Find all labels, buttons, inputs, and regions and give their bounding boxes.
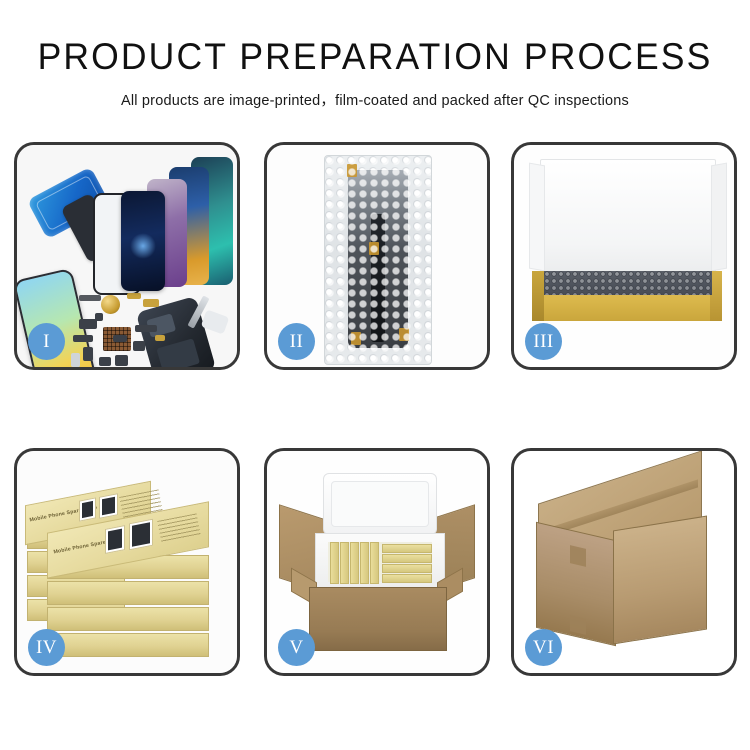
tape-icon [347,164,357,177]
white-box-lid-icon [540,159,716,281]
box-side [47,633,209,657]
process-step-panel-2[interactable]: II [264,142,490,370]
yellow-box-tray-icon [532,271,722,321]
carton-right-face [613,516,707,645]
speaker-component-icon [101,295,120,314]
box-side [47,607,209,631]
box-side [47,581,209,605]
part-icon [95,313,103,321]
tape-icon [399,328,409,341]
carton-front-face [309,587,447,651]
process-step-panel-3[interactable]: III [511,142,737,370]
box-window [105,525,125,554]
part-icon [113,335,127,342]
page-header: PRODUCT PREPARATION PROCESS All products… [0,0,750,110]
part-icon [71,353,80,367]
foam-lid-icon [323,473,437,535]
step-badge-2: II [278,323,315,360]
yellow-box-item [382,544,432,553]
yellow-box-item [340,542,349,584]
yellow-box-item [330,542,339,584]
page-title: PRODUCT PREPARATION PROCESS [15,38,735,75]
foam-cavity [328,542,432,582]
box-window [79,497,96,521]
box-window [129,519,153,551]
foam-box-icon [315,533,445,593]
dark-bubble-wrap-icon [544,271,712,295]
step-badge-4: IV [28,629,65,666]
process-step-panel-4[interactable]: Mobile Phone Spare Parts Mobile Phone Sp… [14,448,240,676]
part-icon [155,335,165,341]
tape-icon [369,242,379,255]
phone-blue-dark-icon [121,191,165,291]
page-subtitle: All products are image-printed，film-coat… [0,89,750,110]
process-step-grid: I II [0,138,750,698]
yellow-box-item [370,542,379,584]
yellow-box-item [360,542,369,584]
step-badge-5: V [278,629,315,666]
part-icon [79,295,101,301]
flex-cable-icon [371,214,385,342]
part-icon [79,319,97,329]
tray-left-lip [532,271,544,321]
part-icon [115,355,128,366]
part-icon [135,325,157,332]
step-badge-6: VI [525,629,562,666]
yellow-box-item [382,564,432,573]
carton-tab [570,615,586,635]
step-badge-1: I [28,323,65,360]
part-icon [143,299,159,307]
part-icon [133,341,145,351]
part-icon [99,357,111,366]
process-step-panel-5[interactable]: V [264,448,490,676]
process-step-panel-6[interactable]: VI [511,448,737,676]
step-badge-3: III [525,323,562,360]
yellow-box-item [350,542,359,584]
bubble-wrap-bag-icon [324,155,432,365]
carton-tab [570,545,586,567]
part-icon [83,347,93,361]
box-window [99,493,118,519]
process-step-panel-1[interactable]: I [14,142,240,370]
yellow-box-item [382,554,432,563]
part-icon [127,293,141,299]
part-icon [73,335,93,342]
tape-icon [351,332,361,345]
yellow-box-item [382,574,432,583]
